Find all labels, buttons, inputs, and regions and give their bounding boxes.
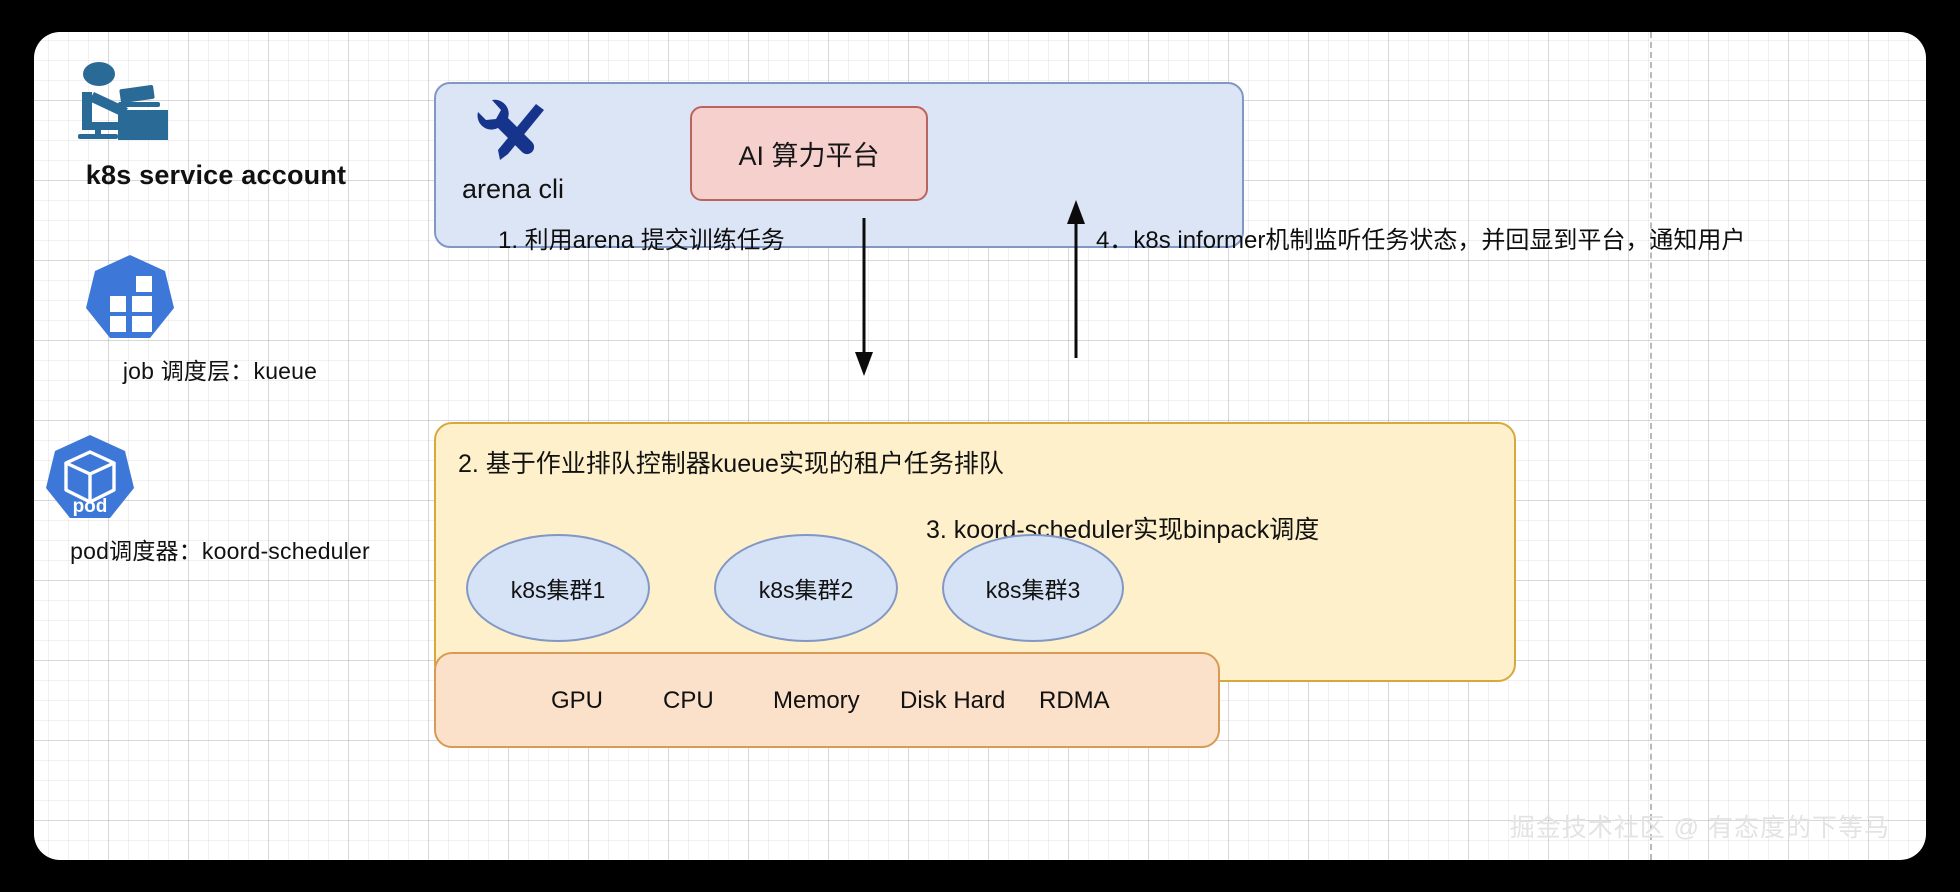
kubernetes-pod-icon: pod <box>40 432 140 532</box>
kubernetes-logo-icon <box>80 252 180 352</box>
diagram-canvas: k8s service account job 调度层：kueue <box>34 32 1926 860</box>
tools-icon <box>472 98 552 168</box>
informer-arrow-label: 4．k8s informer机制监听任务状态，并回显到平台，通知用户 <box>1096 220 1745 255</box>
legend-label-kueue: job 调度层：kueue <box>80 352 360 386</box>
legend-label-koord-scheduler: pod调度器：koord-scheduler <box>40 532 400 566</box>
person-at-desk-icon <box>56 60 176 160</box>
legend-item-service-account: k8s service account <box>56 60 376 191</box>
legend-item-koord-scheduler: pod pod调度器：koord-scheduler <box>40 432 400 566</box>
kueue-panel-line-2: 2. 基于作业排队控制器kueue实现的租户任务排队 <box>458 444 1004 480</box>
screenshot-root: k8s service account job 调度层：kueue <box>0 0 1960 892</box>
ai-platform-label: AI 算力平台 <box>738 134 879 173</box>
page-break-guide <box>1650 32 1652 860</box>
resource-label-gpu: GPU <box>551 687 603 715</box>
cluster-ellipse-1: k8s集群1 <box>466 534 650 642</box>
arena-cli-label: arena cli <box>462 174 564 205</box>
informer-arrow <box>1056 198 1096 358</box>
svg-text:pod: pod <box>73 496 108 517</box>
cluster-ellipse-3: k8s集群3 <box>942 534 1124 642</box>
watermark: 掘金技术社区 @ 有态度的下等马 <box>1510 808 1890 844</box>
kueue-panel-line-3: 3. koord-scheduler实现binpack调度 <box>926 510 1319 546</box>
legend-item-kueue: job 调度层：kueue <box>80 252 360 386</box>
submit-arrow <box>844 218 884 378</box>
resource-label-rdma: RDMA <box>1039 687 1110 715</box>
cluster-ellipse-2: k8s集群2 <box>714 534 898 642</box>
resource-label-cpu: CPU <box>663 687 714 715</box>
resource-label-disk-hard: Disk Hard <box>900 687 1005 715</box>
submit-arrow-label: 1. 利用arena 提交训练任务 <box>498 220 785 255</box>
cluster-label-2: k8s集群2 <box>759 571 854 605</box>
legend-label-service-account: k8s service account <box>56 160 376 191</box>
resource-label-memory: Memory <box>773 687 860 715</box>
cluster-label-3: k8s集群3 <box>986 571 1081 605</box>
cluster-label-1: k8s集群1 <box>511 571 606 605</box>
ai-platform-box: AI 算力平台 <box>690 106 928 201</box>
